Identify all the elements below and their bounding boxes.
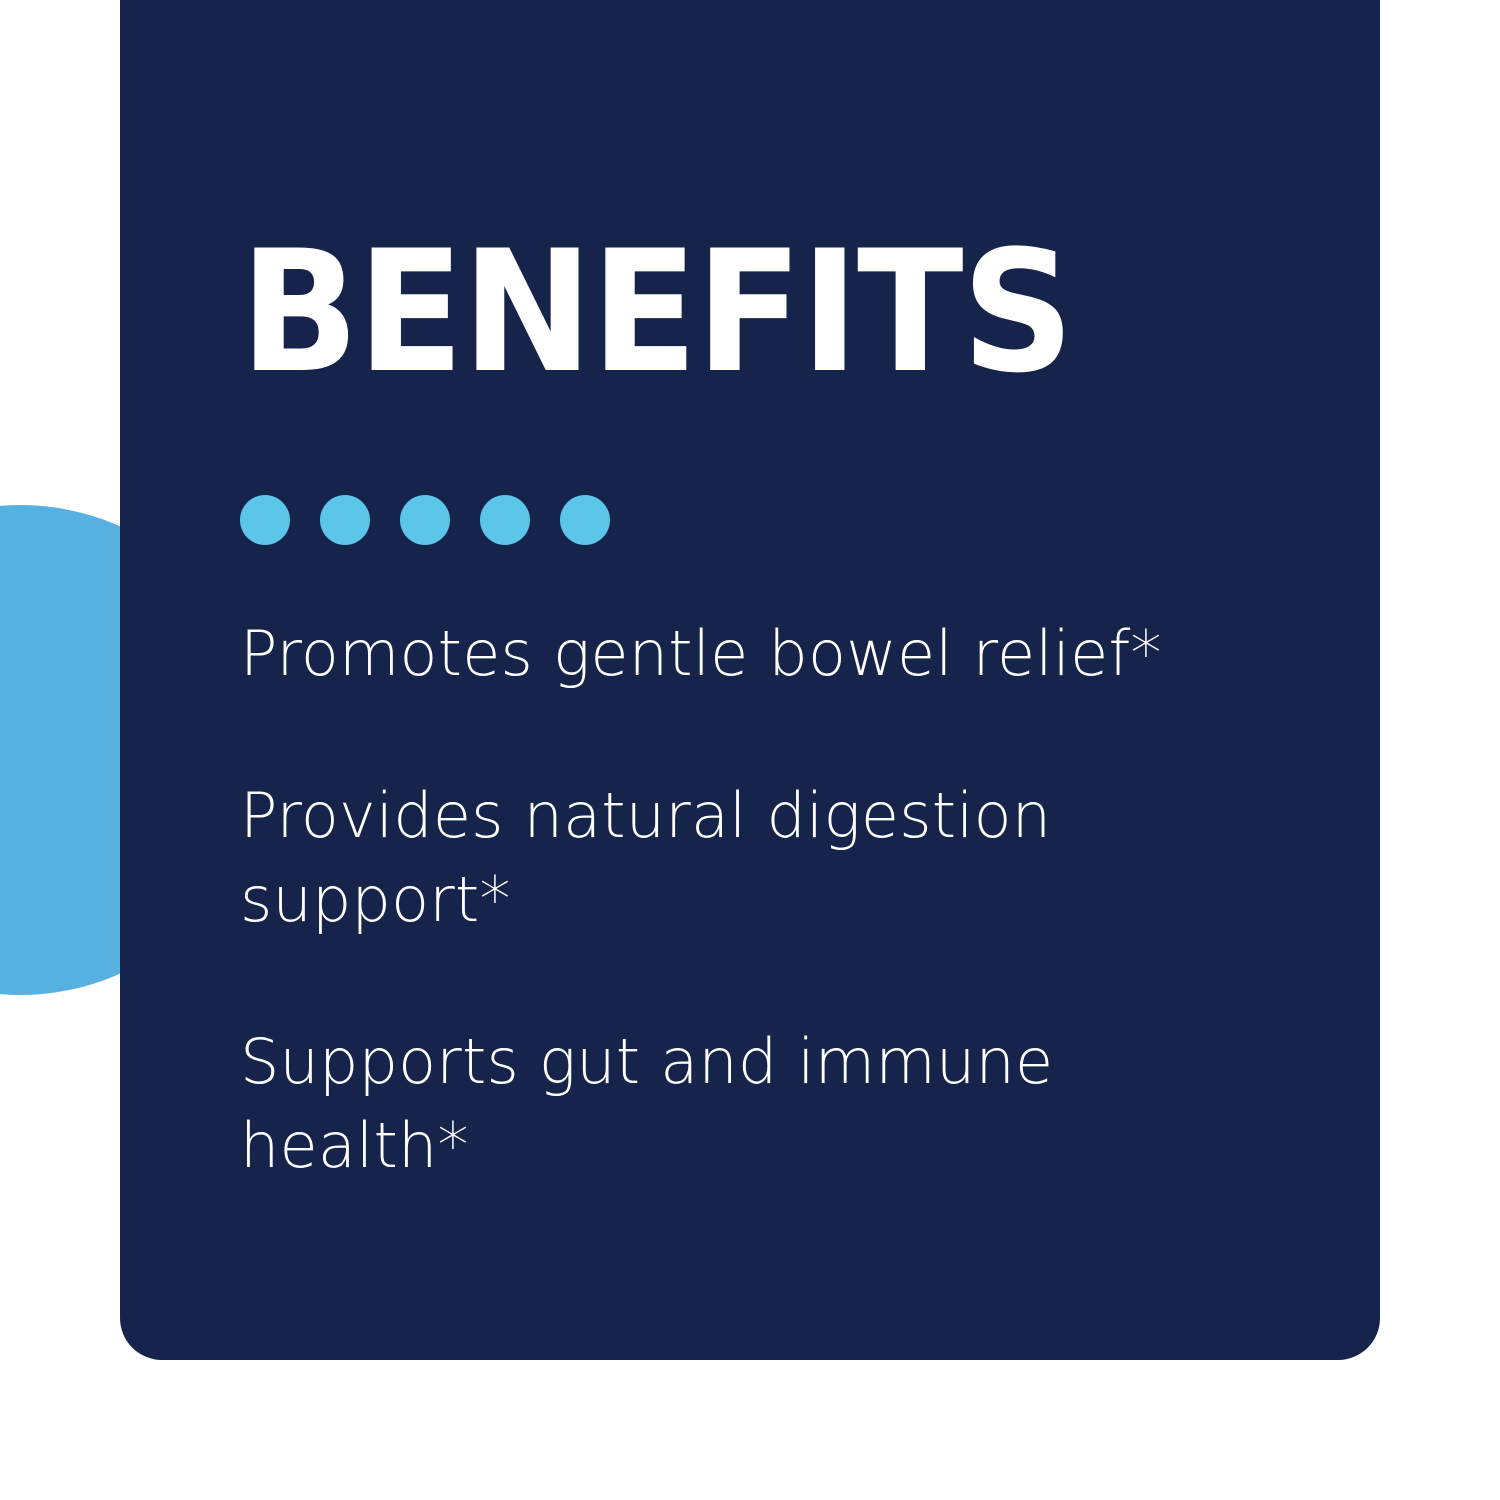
divider-dot-2 xyxy=(320,495,370,545)
divider-dot-3 xyxy=(400,495,450,545)
list-item: Supports gut and immune health* xyxy=(240,1020,1250,1188)
benefits-card-stage: BENEFITS Promotes gentle bowel relief* P… xyxy=(0,0,1500,1500)
benefits-list: Promotes gentle bowel relief* Provides n… xyxy=(240,612,1250,1188)
benefits-card: BENEFITS Promotes gentle bowel relief* P… xyxy=(120,0,1380,1360)
divider-dot-1 xyxy=(240,495,290,545)
list-item: Provides natural digestion support* xyxy=(240,774,1250,942)
divider-dot-4 xyxy=(480,495,530,545)
divider-dot-5 xyxy=(560,495,610,545)
page-title: BENEFITS xyxy=(240,228,1072,396)
dot-divider xyxy=(240,495,610,545)
list-item: Promotes gentle bowel relief* xyxy=(240,612,1250,696)
